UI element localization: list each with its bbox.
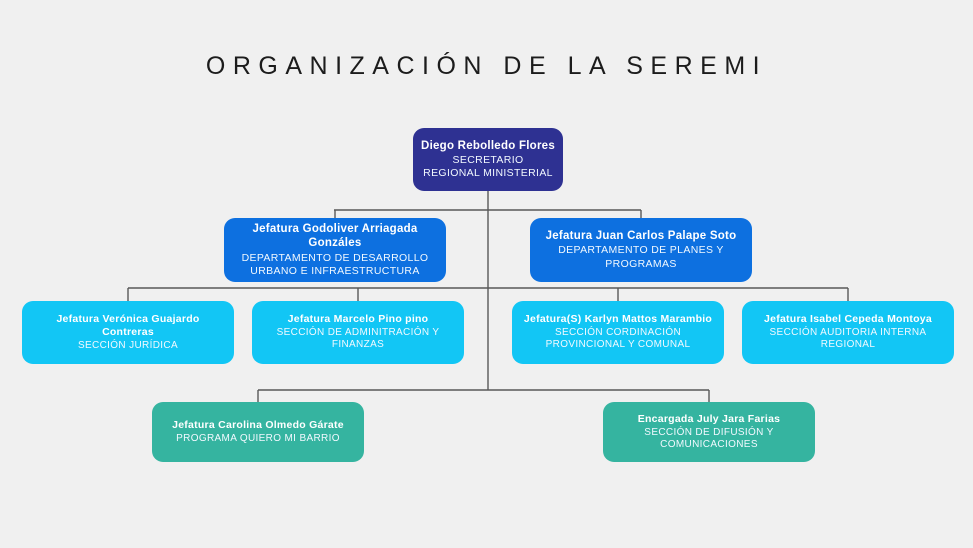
- org-node-n2[interactable]: Jefatura Juan Carlos Palape SotoDEPARTAM…: [530, 218, 752, 282]
- org-node-role: SECCIÓN CORDINACIÓN PROVINCIONAL Y COMUN…: [546, 327, 691, 352]
- org-node-name: Jefatura Juan Carlos Palape Soto: [546, 229, 737, 243]
- org-node-name: Jefatura Carolina Olmedo Gárate: [172, 419, 344, 432]
- org-chart-canvas: ORGANIZACIÓN DE LA SEREMI Diego Rebolled…: [0, 0, 973, 548]
- org-node-name: Diego Rebolledo Flores: [421, 139, 555, 153]
- org-node-n1[interactable]: Jefatura Godoliver Arriagada GonzálesDEP…: [224, 218, 446, 282]
- org-node-role: DEPARTAMENTO DE DESARROLLO URBANO E INFR…: [242, 252, 429, 278]
- org-node-role: SECCIÓN AUDITORIA INTERNA REGIONAL: [770, 327, 927, 352]
- org-node-role: PROGRAMA QUIERO MI BARRIO: [176, 433, 340, 445]
- org-node-n0[interactable]: Diego Rebolledo FloresSECRETARIO REGIONA…: [413, 128, 563, 191]
- org-node-role: SECCIÓN DE ADMINITRACIÓN Y FINANZAS: [277, 327, 440, 352]
- org-node-name: Jefatura(S) Karlyn Mattos Marambio: [524, 313, 712, 326]
- org-node-name: Encargada July Jara Farias: [638, 413, 781, 426]
- org-node-name: Jefatura Marcelo Pino pino: [288, 313, 429, 326]
- org-node-name: Jefatura Isabel Cepeda Montoya: [764, 313, 932, 326]
- connector-lines: [0, 0, 973, 548]
- org-node-n3[interactable]: Jefatura Verónica Guajardo ContrerasSECC…: [22, 301, 234, 364]
- org-node-n6[interactable]: Jefatura Isabel Cepeda MontoyaSECCIÓN AU…: [742, 301, 954, 364]
- org-node-n7[interactable]: Jefatura Carolina Olmedo GáratePROGRAMA …: [152, 402, 364, 462]
- org-node-role: DEPARTAMENTO DE PLANES Y PROGRAMAS: [558, 244, 724, 270]
- org-node-n5[interactable]: Jefatura(S) Karlyn Mattos MarambioSECCIÓ…: [512, 301, 724, 364]
- org-node-name: Jefatura Verónica Guajardo Contreras: [30, 313, 226, 339]
- page-title: ORGANIZACIÓN DE LA SEREMI: [0, 52, 973, 81]
- org-node-role: SECRETARIO REGIONAL MINISTERIAL: [423, 154, 553, 180]
- org-node-name: Jefatura Godoliver Arriagada Gonzáles: [232, 222, 438, 250]
- org-node-n8[interactable]: Encargada July Jara FariasSECCIÓN DE DIF…: [603, 402, 815, 462]
- org-node-role: SECCIÓN DE DIFUSIÓN Y COMUNICACIONES: [644, 427, 773, 452]
- org-node-role: SECCIÓN JURÍDICA: [78, 340, 178, 352]
- org-node-n4[interactable]: Jefatura Marcelo Pino pinoSECCIÓN DE ADM…: [252, 301, 464, 364]
